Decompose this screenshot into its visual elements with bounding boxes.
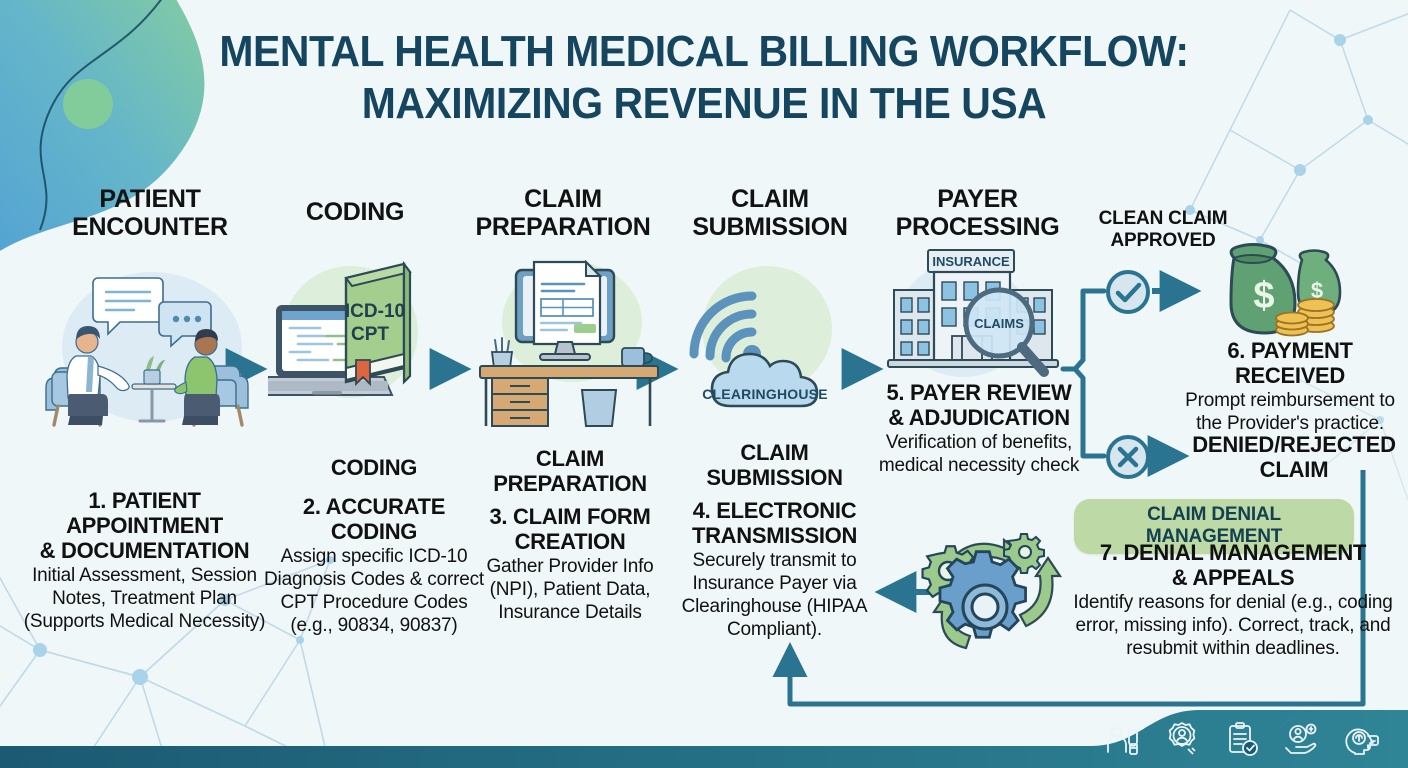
desk-monitor-form-illustration [478,258,663,428]
branch-label-denied: DENIED/REJECTED CLAIM [1188,432,1400,483]
laptop-codebook-illustration: ICD-10 CPT [268,260,438,425]
cloud-label: CLEARINGHOUSE [702,386,828,402]
x-circle-icon [1104,433,1152,481]
codebook-line-2: CPT [351,324,389,345]
therapy-session-illustration [40,270,255,430]
gears-cycle-illustration [912,524,1062,666]
column-header-coding: CODING [255,198,455,226]
clipboard-check-icon [1222,720,1262,760]
caption-step-6: 6. PAYMENT RECEIVED Prompt reimbursement… [1180,338,1400,436]
title-line-2: MAXIMIZING REVENUE IN THE USA [49,78,1358,130]
head-mental-health-icon [1342,720,1382,760]
title-line-1: MENTAL HEALTH MEDICAL BILLING WORKFLOW: [49,26,1358,78]
codebook-line-1: ICD-10 [345,301,405,322]
magnifier-label: CLAIMS [974,316,1024,331]
column-header-claim-submission: CLAIM SUBMISSION [665,185,875,241]
caption-step-3: CLAIM PREPARATION 3. CLAIM FORM CREATION… [470,446,670,625]
building-sign-label: INSURANCE [932,254,1010,269]
infographic-canvas: MENTAL HEALTH MEDICAL BILLING WORKFLOW: … [0,0,1408,768]
check-circle-icon [1104,268,1152,316]
column-header-claim-preparation: CLAIM PREPARATION [458,185,668,241]
caption-step-1: 1. PATIENT APPOINTMENT & DOCUMENTATION I… [22,488,267,634]
column-header-patient-encounter: PATIENT ENCOUNTER [40,185,260,241]
column-header-payer-processing: PAYER PROCESSING [870,185,1085,241]
doctor-tools-icon [1102,720,1142,760]
bottom-bar-icons [1102,718,1382,762]
insurance-building-magnifier-illustration: INSURANCE CLAIMS [886,248,1066,383]
caption-step-5: 5. PAYER REVIEW & ADJUDICATION Verificat… [868,380,1090,478]
page-title: MENTAL HEALTH MEDICAL BILLING WORKFLOW: … [0,26,1408,130]
money-bags-coins-illustration: $ $ [1216,238,1356,348]
gear-user-icon [1162,720,1202,760]
hand-coin-user-icon [1282,720,1322,760]
caption-step-4: CLAIM SUBMISSION 4. ELECTRONIC TRANSMISS… [672,440,877,642]
dollar-sign-large: $ [1253,275,1274,317]
caption-step-7: 7. DENIAL MANAGEMENT & APPEALS Identify … [1068,540,1398,661]
branch-label-approved: CLEAN CLAIM APPROVED [1068,208,1258,252]
wifi-cloud-clearinghouse-illustration: CLEARINGHOUSE [678,258,863,418]
caption-step-2: CODING 2. ACCURATE CODING Assign specifi… [258,455,490,637]
